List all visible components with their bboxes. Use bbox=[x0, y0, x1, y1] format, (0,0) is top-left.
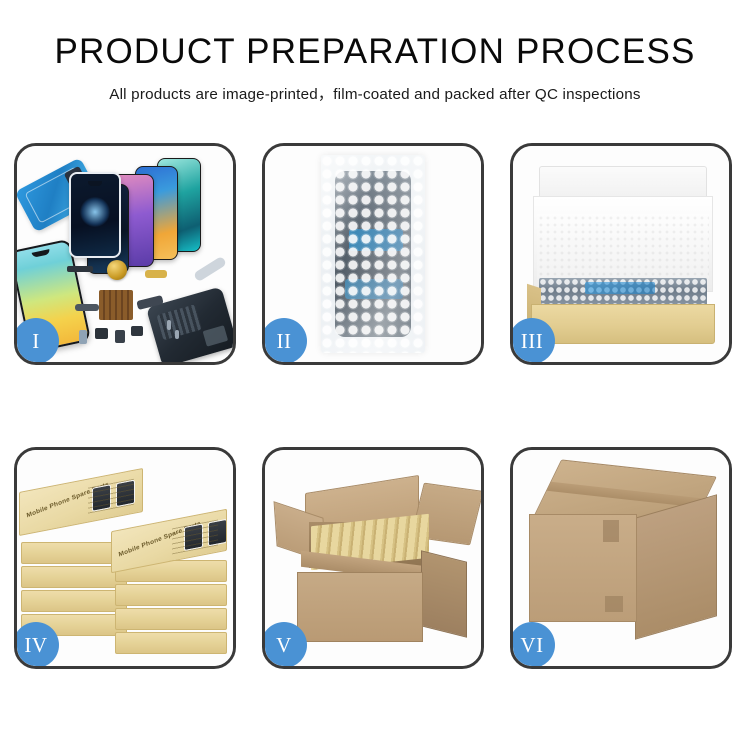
camera-module-icon bbox=[131, 326, 143, 336]
step-panel-stacked-retail-boxes: Mobile Phone Spare Parts Mobile Phone Sp… bbox=[14, 447, 236, 669]
retail-box-body bbox=[115, 584, 227, 606]
step-panel-sealed-carton: VI bbox=[510, 447, 732, 669]
component-module-icon bbox=[115, 330, 125, 343]
process-steps-grid: I II bbox=[14, 143, 736, 669]
chip-grid-part-icon bbox=[99, 290, 133, 320]
page-subtitle: All products are image-printed，film-coat… bbox=[0, 82, 750, 104]
carton-side-panel bbox=[421, 550, 467, 637]
step-panel-products-and-spare-parts: I bbox=[14, 143, 236, 365]
screw-icon bbox=[175, 330, 179, 339]
retail-box-body bbox=[21, 590, 127, 612]
open-shipping-carton-icon bbox=[277, 480, 473, 648]
step-badge-5: V bbox=[262, 622, 307, 668]
spec-lines-print bbox=[88, 479, 134, 514]
plastic-sheen-overlay bbox=[321, 155, 425, 353]
step-badge-6: VI bbox=[510, 622, 555, 668]
retail-box-lid-back: Mobile Phone Spare Parts bbox=[19, 468, 143, 536]
tempered-glass-screen-icon bbox=[69, 172, 121, 258]
retail-box-body bbox=[115, 632, 227, 654]
step-badge-1: I bbox=[14, 318, 59, 364]
flex-cable-icon bbox=[75, 304, 99, 311]
open-inner-box-icon bbox=[527, 166, 719, 346]
product-preparation-infographic: PRODUCT PREPARATION PROCESS All products… bbox=[0, 0, 750, 750]
gold-coil-part-icon bbox=[107, 260, 127, 280]
spare-parts-group bbox=[67, 258, 197, 358]
sim-tray-icon bbox=[79, 330, 87, 344]
screw-icon bbox=[167, 320, 171, 330]
earpiece-mesh-icon bbox=[67, 266, 93, 272]
bubble-wrap-package-icon bbox=[321, 155, 425, 353]
step-badge-2: II bbox=[262, 318, 307, 364]
sealed-shipping-carton-icon bbox=[525, 468, 721, 652]
step-badge-3: III bbox=[510, 318, 555, 364]
carton-edge-tab bbox=[603, 520, 619, 542]
gold-flex-cable-icon bbox=[145, 270, 167, 278]
step-panel-inner-box-packing: III bbox=[510, 143, 732, 365]
carton-edge-tab bbox=[605, 596, 623, 612]
carton-side-panel bbox=[635, 494, 717, 640]
step-badge-4: IV bbox=[14, 622, 59, 668]
header: PRODUCT PREPARATION PROCESS All products… bbox=[0, 0, 750, 104]
spec-lines-print bbox=[172, 519, 218, 554]
box-front-panel bbox=[531, 304, 715, 344]
carton-front-panel bbox=[297, 572, 423, 642]
step-panel-bubble-wrap-packing: II bbox=[262, 143, 484, 365]
retail-box-body bbox=[115, 608, 227, 630]
component-square-icon bbox=[95, 328, 108, 339]
step-panel-carton-loading: V bbox=[262, 447, 484, 669]
foam-liner bbox=[537, 214, 709, 280]
connector-cable-icon bbox=[136, 295, 163, 310]
page-title: PRODUCT PREPARATION PROCESS bbox=[0, 34, 750, 71]
